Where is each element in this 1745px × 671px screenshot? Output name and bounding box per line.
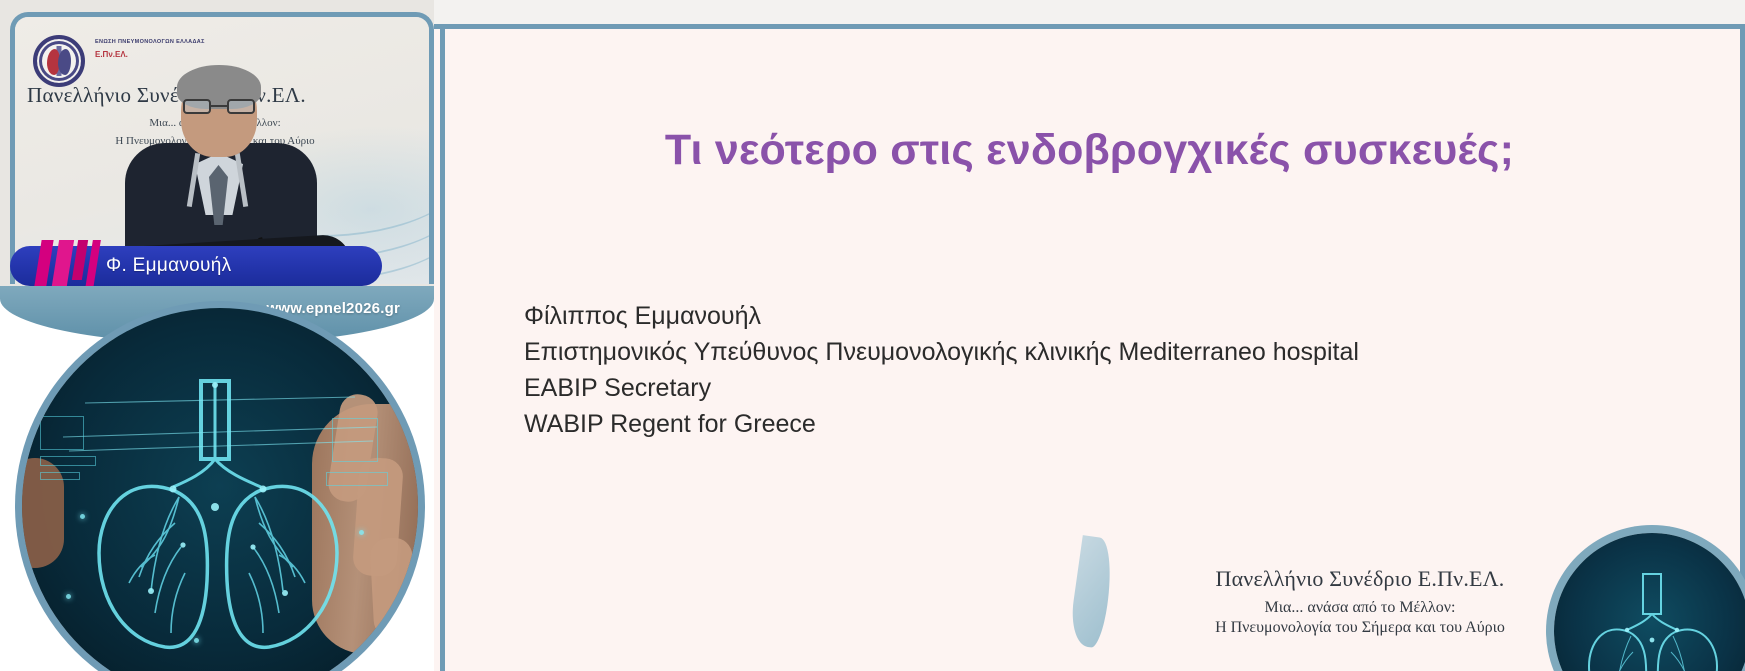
organization-abbreviation: Ε.Πν.ΕΛ.: [95, 50, 270, 59]
congress-lockup: Πανελλήνιο Συνέδριο Ε.Πν.ΕΛ. Μια... ανάσ…: [1065, 566, 1655, 637]
glasses-icon: [183, 99, 255, 115]
lungs-xray-icon: [55, 341, 385, 671]
lungs-xray-icon-small: [1577, 560, 1727, 671]
hud-panel-icon: [332, 418, 378, 462]
glasses-bridge: [211, 105, 227, 107]
body-line-eabip-role: EABIP Secretary: [524, 370, 1704, 406]
slide-top-margin: [434, 0, 1745, 24]
hud-dot-icon: [66, 594, 71, 599]
slide-title: Τι νεότερο στις ενδοβρογχικές συσκευές;: [434, 126, 1745, 175]
body-line-author: Φίλιππος Εμμανουήλ: [524, 298, 1704, 334]
hud-panel-icon: [40, 416, 84, 450]
speaker-video-tile[interactable]: ΕΝΩΣΗ ΠΝΕΥΜΟΝΟΛΟΓΩΝ ΕΛΛΑΔΑΣ Ε.Πν.ΕΛ. Παν…: [0, 0, 434, 300]
glasses-lens-left: [183, 99, 211, 114]
epnel-logo-icon: [33, 35, 85, 87]
presentation-screen: ΕΝΩΣΗ ΠΝΕΥΜΟΝΟΛΟΓΩΝ ΕΛΛΑΔΑΣ Ε.Πν.ΕΛ. Παν…: [0, 0, 1745, 671]
speaker-name-label: Φ. Εμμανουήλ: [106, 255, 231, 277]
hud-panel-icon: [40, 456, 96, 466]
lockup-lung-scan-image: [1554, 533, 1745, 671]
slide-border-right: [1740, 24, 1745, 671]
body-line-affiliation: Επιστημονικός Υπεύθυνος Πνευμονολογικής …: [524, 334, 1704, 370]
body-line-wabip-role: WABIP Regent for Greece: [524, 406, 1704, 442]
speaker-video-frame: ΕΝΩΣΗ ΠΝΕΥΜΟΝΟΛΟΓΩΝ ΕΛΛΑΔΑΣ Ε.Πν.ΕΛ. Παν…: [10, 12, 434, 284]
presentation-slide: Τι νεότερο στις ενδοβρογχικές συσκευές; …: [434, 0, 1745, 671]
hud-dot-icon: [194, 638, 199, 643]
slide-border-left: [440, 24, 445, 671]
hud-panel-icon: [326, 472, 388, 486]
slide-body-text: Φίλιππος Εμμανουήλ Επιστημονικός Υπεύθυν…: [524, 298, 1704, 442]
lung-artwork-panel: www.epnel2026.gr: [0, 286, 434, 671]
speaker-name-pill: Φ. Εμμανουήλ: [10, 246, 382, 286]
speaker-column: ΕΝΩΣΗ ΠΝΕΥΜΟΝΟΛΟΓΩΝ ΕΛΛΑΔΑΣ Ε.Πν.ΕΛ. Παν…: [0, 0, 434, 671]
organization-name: ΕΝΩΣΗ ΠΝΕΥΜΟΝΟΛΟΓΩΝ ΕΛΛΑΔΑΣ: [95, 39, 270, 45]
congress-website-url: www.epnel2026.gr: [266, 300, 400, 317]
logo-text-block: ΕΝΩΣΗ ΠΝΕΥΜΟΝΟΛΟΓΩΝ ΕΛΛΑΔΑΣ Ε.Πν.ΕΛ.: [95, 39, 270, 59]
slide-border-top: [434, 24, 1745, 29]
logo-lung-right-shape: [58, 49, 71, 75]
hud-dot-icon: [80, 514, 85, 519]
hud-dot-icon: [359, 530, 364, 535]
glasses-lens-right: [227, 99, 255, 114]
speaker-name-banner: Φ. Εμμανουήλ: [10, 246, 382, 286]
hud-panel-icon: [40, 472, 80, 480]
lung-scan-image: [22, 308, 418, 671]
